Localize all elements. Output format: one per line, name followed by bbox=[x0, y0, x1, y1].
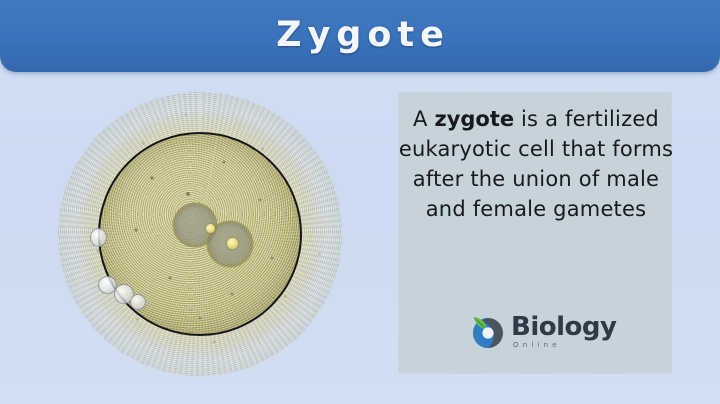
logo-wordmark: Biology Online bbox=[511, 314, 616, 349]
definition-text: A zygote is a fertilized eukaryotic cell… bbox=[396, 104, 676, 224]
definition-term: zygote bbox=[434, 107, 514, 131]
biology-online-mark-icon bbox=[468, 312, 506, 350]
definition-prefix: A bbox=[413, 107, 434, 131]
logo-subtitle: Online bbox=[513, 342, 616, 349]
zygote-micrograph bbox=[22, 76, 378, 398]
polar-body-1 bbox=[90, 228, 107, 247]
page-title: Zygote bbox=[270, 18, 450, 53]
logo-name: Biology bbox=[511, 314, 616, 340]
polar-body-4 bbox=[130, 294, 146, 310]
biology-online-logo[interactable]: Biology Online bbox=[468, 308, 636, 354]
header-banner: Zygote bbox=[0, 0, 720, 72]
nucleolus-1 bbox=[206, 224, 215, 233]
zygote-infographic: Zygote A zygote is a fertilized eukaryot… bbox=[0, 0, 720, 404]
nucleolus-2 bbox=[227, 238, 238, 249]
